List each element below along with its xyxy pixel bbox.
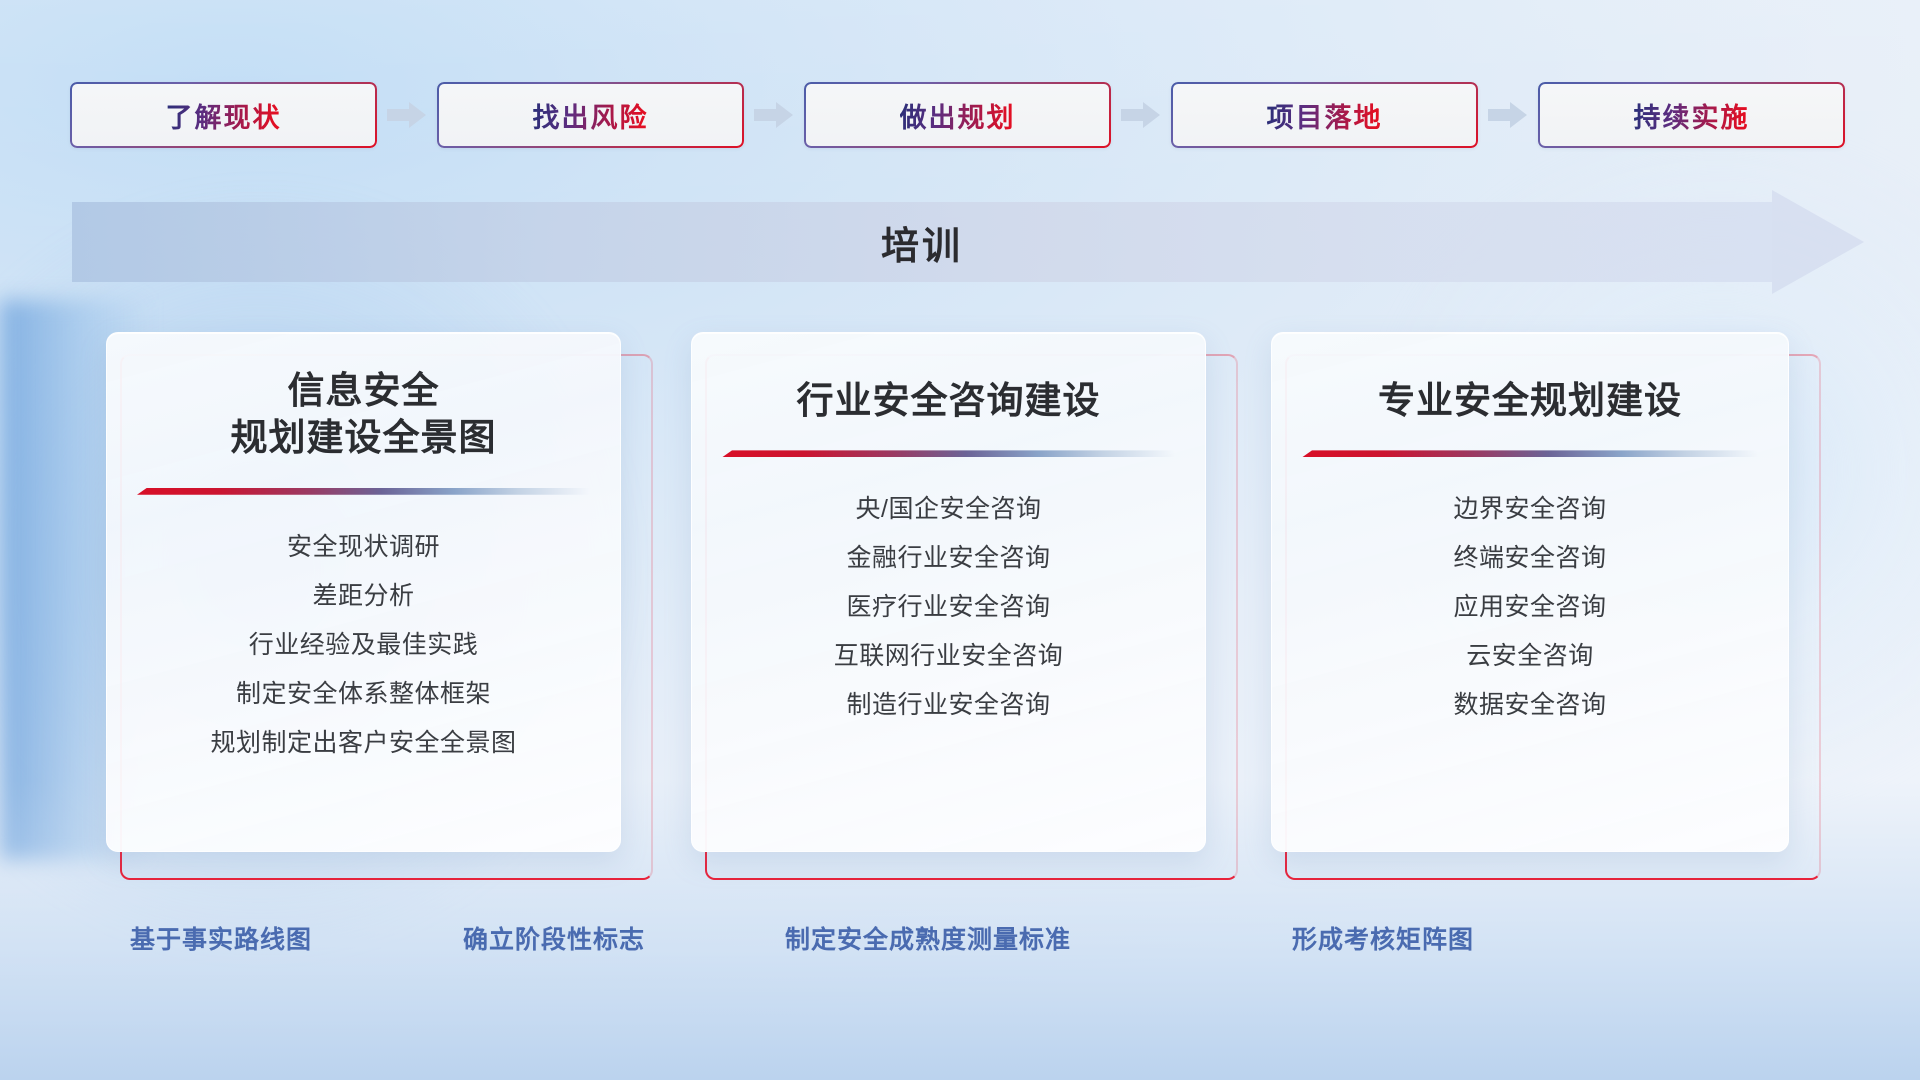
arrow-right-icon bbox=[744, 82, 804, 148]
arrow-right-icon bbox=[1111, 82, 1171, 148]
process-step-1[interactable]: 了解现状 bbox=[70, 82, 377, 148]
card-1-item-list: 安全现状调研 差距分析 行业经验及最佳实践 制定安全体系整体框架 规划制定出客户… bbox=[107, 527, 620, 763]
list-item: 行业经验及最佳实践 bbox=[249, 625, 479, 665]
process-step-3-label: 做出规划 bbox=[900, 96, 1016, 135]
card-1-title: 信息安全 规划建设全景图 bbox=[213, 367, 515, 462]
outcome-caption-1: 基于事实路线图 bbox=[130, 920, 312, 956]
card-2-panel: 行业安全咨询建设 央/国企安全咨询 金融行业安全咨询 医疗行业安全咨询 互联网行… bbox=[691, 332, 1206, 852]
list-item: 规划制定出客户安全全景图 bbox=[210, 723, 516, 763]
list-item: 制造行业安全咨询 bbox=[846, 685, 1050, 725]
list-item: 边界安全咨询 bbox=[1453, 489, 1606, 529]
card-3-panel: 专业安全规划建设 边界安全咨询 终端安全咨询 应用安全咨询 云安全咨询 数据安全… bbox=[1271, 332, 1789, 852]
list-item: 安全现状调研 bbox=[287, 527, 440, 567]
process-step-row: 了解现状 找出风险 做出规划 项目落地 持续实施 bbox=[70, 80, 1860, 150]
card-3-title: 专业安全规划建设 bbox=[1360, 377, 1700, 424]
list-item: 互联网行业安全咨询 bbox=[834, 636, 1064, 676]
process-step-5[interactable]: 持续实施 bbox=[1538, 82, 1845, 148]
process-step-3[interactable]: 做出规划 bbox=[804, 82, 1111, 148]
list-item: 数据安全咨询 bbox=[1453, 685, 1606, 725]
arrow-right-icon bbox=[377, 82, 437, 148]
arrow-right-icon bbox=[1478, 82, 1538, 148]
list-item: 云安全咨询 bbox=[1466, 636, 1594, 676]
process-step-2[interactable]: 找出风险 bbox=[437, 82, 744, 148]
list-item: 央/国企安全咨询 bbox=[856, 489, 1042, 529]
list-item: 金融行业安全咨询 bbox=[846, 538, 1050, 578]
process-step-1-label: 了解现状 bbox=[166, 96, 282, 135]
process-step-4-label: 项目落地 bbox=[1267, 96, 1383, 135]
card-1-divider bbox=[137, 488, 590, 495]
card-1-title-line-1: 信息安全 bbox=[231, 367, 497, 414]
card-1-title-line-2: 规划建设全景图 bbox=[231, 414, 497, 461]
outcome-caption-4: 形成考核矩阵图 bbox=[1292, 920, 1474, 956]
list-item: 医疗行业安全咨询 bbox=[846, 587, 1050, 627]
list-item: 制定安全体系整体框架 bbox=[236, 674, 491, 714]
training-banner-title: 培训 bbox=[72, 202, 1772, 282]
card-2-title: 行业安全咨询建设 bbox=[779, 377, 1119, 424]
card-3-item-list: 边界安全咨询 终端安全咨询 应用安全咨询 云安全咨询 数据安全咨询 bbox=[1272, 489, 1788, 725]
list-item: 终端安全咨询 bbox=[1453, 538, 1606, 578]
process-step-5-label: 持续实施 bbox=[1634, 96, 1750, 135]
outcome-caption-3: 制定安全成熟度测量标准 bbox=[785, 920, 1071, 956]
process-step-2-label: 找出风险 bbox=[533, 96, 649, 135]
outcome-caption-row: 基于事实路线图 确立阶段性标志 制定安全成熟度测量标准 形成考核矩阵图 bbox=[0, 920, 1920, 980]
card-2-title-line-1: 行业安全咨询建设 bbox=[797, 377, 1101, 424]
card-2-divider bbox=[722, 450, 1175, 457]
capability-card-row: 信息安全 规划建设全景图 安全现状调研 差距分析 行业经验及最佳实践 制定安全体… bbox=[0, 332, 1920, 892]
outcome-caption-2: 确立阶段性标志 bbox=[463, 920, 645, 956]
card-3-title-line-1: 专业安全规划建设 bbox=[1378, 377, 1682, 424]
banner-arrow-right-icon bbox=[1772, 190, 1864, 294]
process-step-4[interactable]: 项目落地 bbox=[1171, 82, 1478, 148]
card-1-panel: 信息安全 规划建设全景图 安全现状调研 差距分析 行业经验及最佳实践 制定安全体… bbox=[106, 332, 621, 852]
list-item: 差距分析 bbox=[312, 576, 414, 616]
card-2-item-list: 央/国企安全咨询 金融行业安全咨询 医疗行业安全咨询 互联网行业安全咨询 制造行… bbox=[692, 489, 1205, 725]
training-banner: 培训 bbox=[72, 202, 1864, 282]
card-3-divider bbox=[1302, 450, 1758, 457]
list-item: 应用安全咨询 bbox=[1453, 587, 1606, 627]
